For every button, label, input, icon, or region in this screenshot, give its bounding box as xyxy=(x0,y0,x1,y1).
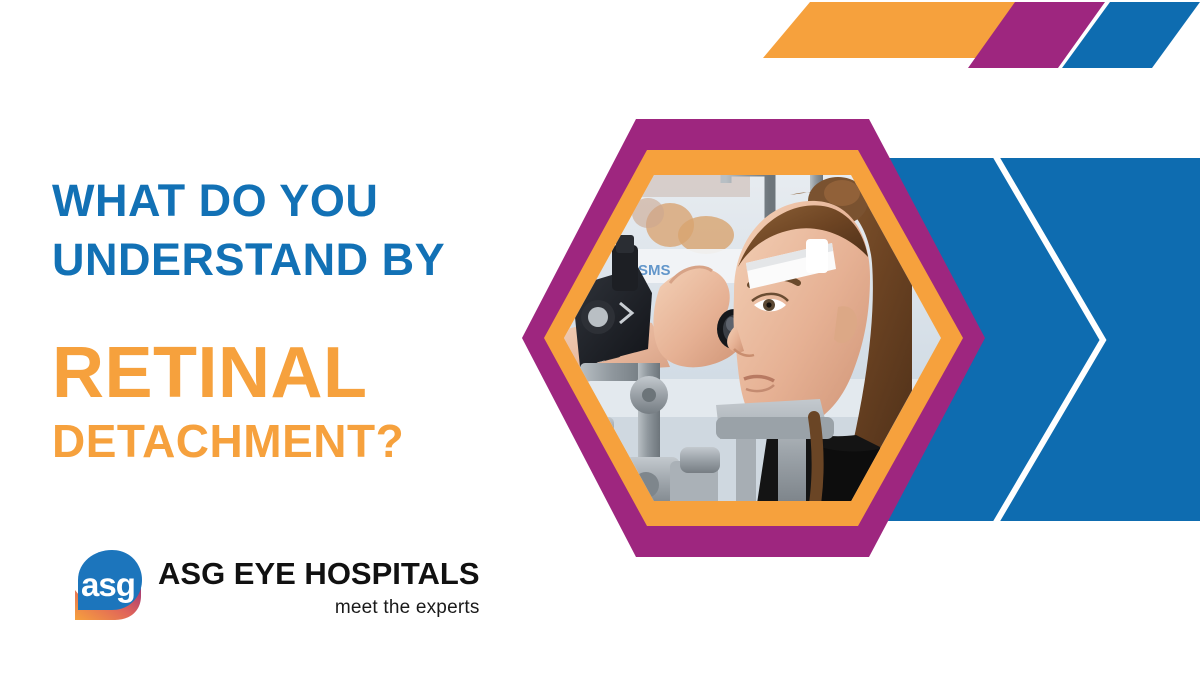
headline-block: WHAT DO YOU UNDERSTAND BY RETINAL DETACH… xyxy=(52,172,522,468)
headline-line-2: UNDERSTAND BY xyxy=(52,231,522,290)
asg-logo-icon: asg xyxy=(68,546,152,628)
banner-orange-parallelogram xyxy=(763,2,1060,58)
logo-tagline: meet the experts xyxy=(335,598,480,617)
banner-magenta-parallelogram xyxy=(968,2,1105,68)
headline-line-3: RETINAL xyxy=(52,335,522,413)
headline-line-4: DETACHMENT? xyxy=(52,415,522,468)
headline-line-1: WHAT DO YOU xyxy=(52,172,522,231)
logo-text-group: ASG EYE HOSPITALS meet the experts xyxy=(158,558,480,617)
top-decoration-banner xyxy=(0,0,1200,90)
brand-logo[interactable]: asg ASG EYE HOSPITALS meet the experts xyxy=(68,546,480,628)
promo-banner-canvas: WHAT DO YOU UNDERSTAND BY RETINAL DETACH… xyxy=(0,0,1200,680)
logo-mark-text: asg xyxy=(81,566,135,603)
logo-company-name: ASG EYE HOSPITALS xyxy=(158,558,480,589)
hexagon-photo-badge: SMS xyxy=(520,117,985,559)
banner-blue-parallelogram xyxy=(1062,2,1200,68)
